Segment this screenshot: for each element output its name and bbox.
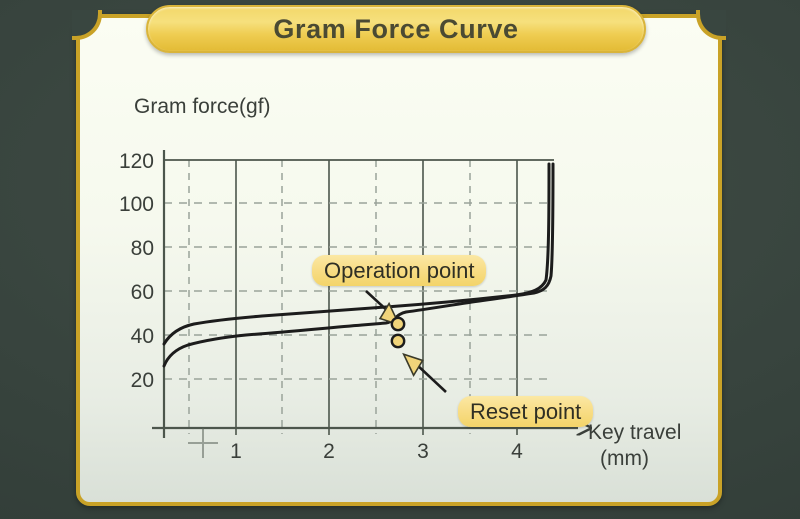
operation-point-callout: Operation point	[312, 255, 486, 286]
registration-crosshair	[188, 428, 218, 458]
title-banner: Gram Force Curve	[146, 5, 646, 53]
reset-point-callout: Reset point	[458, 396, 593, 427]
page-title: Gram Force Curve	[273, 16, 518, 43]
y-tick-40: 40	[131, 325, 154, 348]
operation-point-callout-label: Operation point	[324, 258, 474, 284]
x-tick-1: 1	[230, 440, 242, 463]
reset-point-callout-label: Reset point	[470, 399, 581, 425]
reset-point-marker[interactable]	[392, 335, 404, 347]
reset-point-arrow-head	[398, 354, 422, 376]
curve-release-stroke	[164, 164, 549, 344]
x-tick-2: 2	[323, 440, 335, 463]
y-tick-120: 120	[119, 150, 154, 173]
x-axis-title-unit: (mm)	[600, 447, 649, 470]
grid-horizontal	[164, 203, 554, 379]
reset-point-arrow-shaft	[416, 364, 446, 392]
chart-panel: Gram Force Curve	[76, 14, 722, 506]
screenshot-root: Gram Force Curve	[0, 0, 800, 519]
plot-area: 120 100 80 60 40 20 1 2 3 4 Gram force(g…	[76, 14, 722, 506]
x-tick-4: 4	[511, 440, 523, 463]
y-tick-60: 60	[131, 281, 154, 304]
y-tick-100: 100	[119, 193, 154, 216]
x-axis-title: Key travel	[588, 421, 681, 444]
y-tick-labels: 120 100 80 60 40 20	[119, 150, 154, 392]
y-tick-80: 80	[131, 237, 154, 260]
x-tick-labels: 1 2 3 4	[230, 440, 523, 463]
operation-point-marker[interactable]	[392, 318, 404, 330]
y-tick-20: 20	[131, 369, 154, 392]
x-tick-3: 3	[417, 440, 429, 463]
y-axis-title: Gram force(gf)	[134, 95, 271, 118]
